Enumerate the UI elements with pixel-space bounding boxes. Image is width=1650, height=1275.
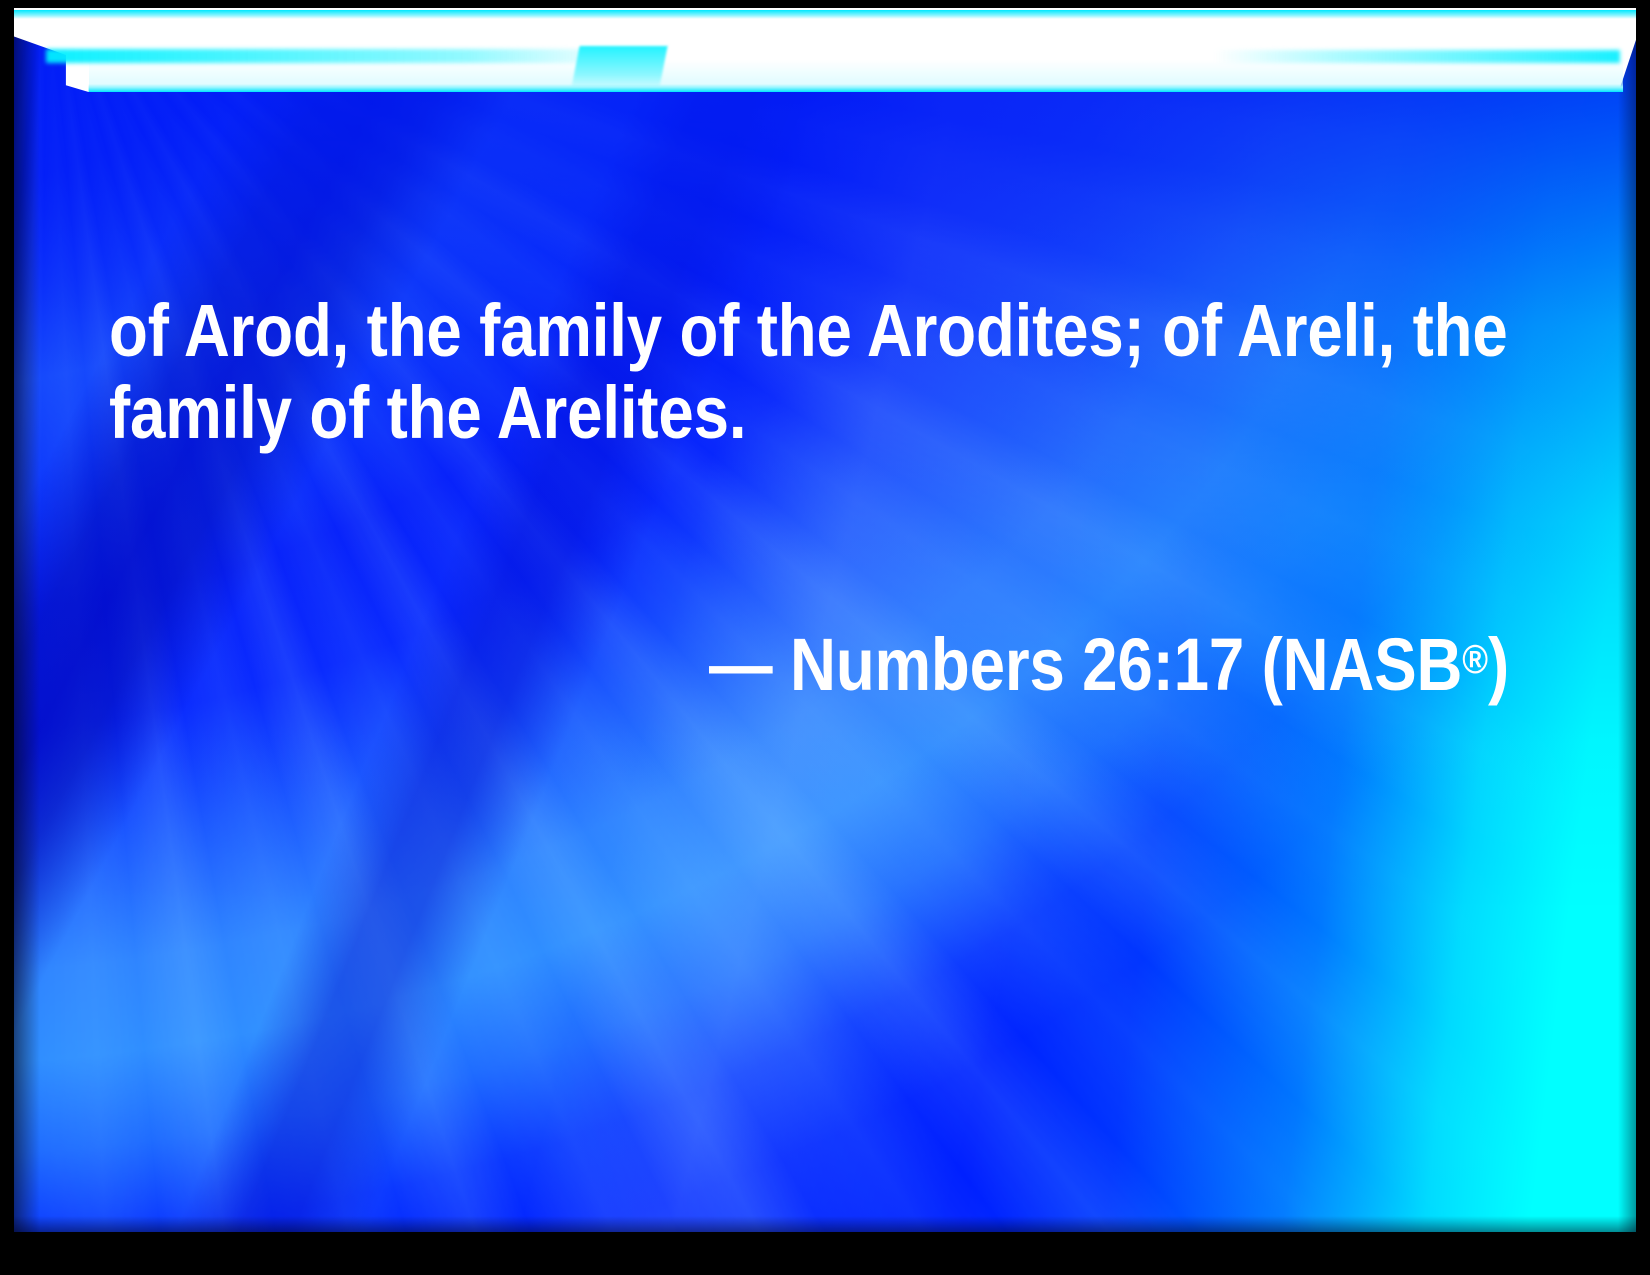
citation-translation-close: ) bbox=[1488, 623, 1509, 706]
band-cyan-streak-right bbox=[1214, 50, 1620, 63]
verse-citation: — Numbers 26:17 (NASB®) bbox=[109, 618, 1509, 706]
citation-space bbox=[773, 623, 791, 706]
citation-translation-open: (NASB bbox=[1244, 623, 1462, 706]
verse-body-text: of Arod, the family of the Arodites; of … bbox=[109, 290, 1509, 454]
band-cyan-bottom-edge bbox=[14, 84, 1636, 92]
citation-em-dash: — bbox=[709, 623, 772, 706]
citation-reference: Numbers 26:17 bbox=[790, 623, 1244, 706]
registered-trademark-icon: ® bbox=[1462, 636, 1488, 682]
verse-block: of Arod, the family of the Arodites; of … bbox=[109, 126, 1509, 870]
slide-root: of Arod, the family of the Arodites; of … bbox=[0, 0, 1650, 1275]
top-decorative-band bbox=[14, 8, 1636, 92]
band-cyan-top-edge bbox=[14, 10, 1636, 19]
band-cyan-streak-left bbox=[46, 49, 630, 62]
slide-canvas: of Arod, the family of the Arodites; of … bbox=[14, 8, 1636, 1232]
